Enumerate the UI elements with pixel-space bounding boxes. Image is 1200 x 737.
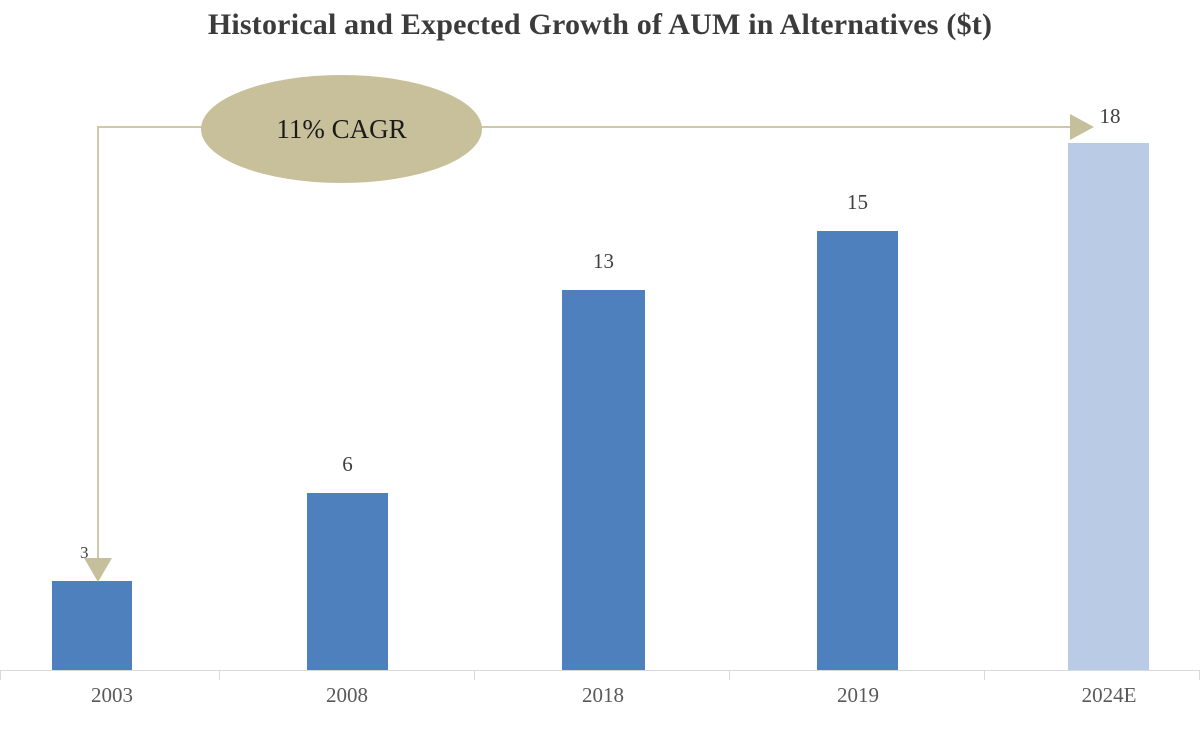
axis-label-2003: 2003 — [52, 683, 172, 708]
axis-tick-0 — [0, 671, 1, 680]
axis-label-2019: 2019 — [798, 683, 918, 708]
bar-2003[interactable] — [52, 581, 132, 670]
cagr-connector-vertical — [97, 126, 99, 571]
chart-container: Historical and Expected Growth of AUM in… — [0, 0, 1200, 737]
bar-2024e[interactable] — [1068, 143, 1149, 670]
axis-label-2018: 2018 — [543, 683, 663, 708]
bar-2019[interactable] — [817, 231, 898, 670]
bar-value-label-2003: 3 — [80, 543, 89, 563]
bar-2008[interactable] — [307, 493, 388, 670]
bar-value-label-2018: 13 — [562, 249, 645, 274]
plot-area: 3 6 13 15 18 2003 2008 2018 2019 2024E — [0, 0, 1200, 737]
bar-value-label-2008: 6 — [307, 452, 388, 477]
bar-2018[interactable] — [562, 290, 645, 670]
bar-value-label-2019: 15 — [817, 190, 898, 215]
axis-label-2024e: 2024E — [1049, 683, 1169, 708]
cagr-callout-ellipse: 11% CAGR — [201, 75, 482, 183]
cagr-arrowhead-right-icon — [1070, 114, 1094, 140]
cagr-callout-label: 11% CAGR — [276, 114, 406, 145]
axis-tick-4 — [984, 671, 985, 680]
axis-tick-3 — [729, 671, 730, 680]
axis-tick-2 — [474, 671, 475, 680]
axis-label-2008: 2008 — [287, 683, 407, 708]
x-axis-line — [0, 670, 1200, 671]
axis-tick-1 — [219, 671, 220, 680]
